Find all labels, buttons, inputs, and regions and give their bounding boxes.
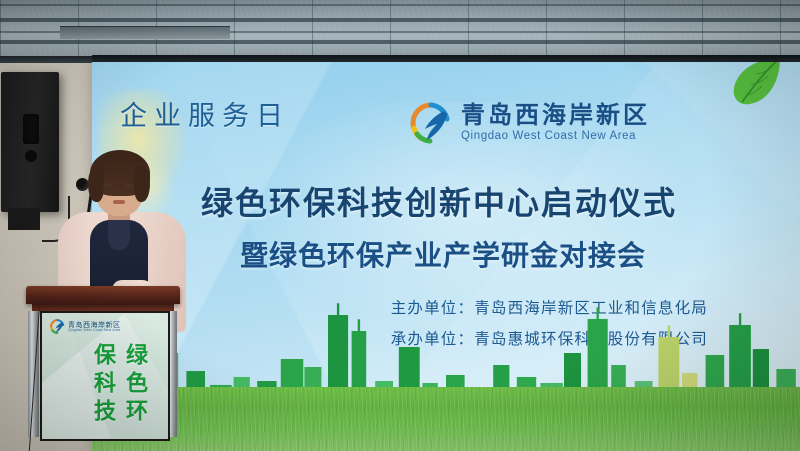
speaker-grill-icon [23, 114, 39, 144]
screenshot-stage: 企业服务日 青岛西海岸新区 Qingdao West Coast New Are… [0, 0, 800, 451]
event-subheadline: 暨绿色环保产业产学研金对接会 [92, 234, 800, 274]
ceiling-rail [0, 40, 800, 44]
podium-bird-logo-icon [50, 319, 65, 334]
podium-logo-en: Qingdao West Coast New Area [68, 329, 121, 333]
podium-sign-panel: 青岛西海岸新区 Qingdao West Coast New Area 绿色环保… [40, 311, 170, 441]
ceiling-tiles [0, 0, 800, 60]
event-series-badge: 企业服务日 [120, 94, 290, 133]
event-headline: 绿色环保科技创新中心启动仪式 [92, 178, 800, 224]
speaker-hair-left [88, 166, 104, 202]
speaker-eye-left [103, 184, 112, 187]
speaker-mouth [113, 200, 125, 204]
green-city-skyline-silhouette [92, 301, 800, 451]
wall-mounted-loudspeaker [1, 72, 59, 212]
speaker-bracket [8, 208, 40, 230]
podium-logo: 青岛西海岸新区 Qingdao West Coast New Area [50, 319, 121, 334]
ceiling-vent [60, 26, 230, 39]
speaker-neckline [108, 220, 130, 250]
green-leaf-decoration [726, 62, 782, 108]
podium-lip [32, 304, 174, 311]
podium-vertical-title: 绿色环保科技 [86, 343, 150, 439]
qingdao-logo-block: 青岛西海岸新区 Qingdao West Coast New Area [410, 102, 650, 144]
speaker-eye-right [124, 184, 133, 187]
qingdao-west-coast-bird-logo-icon [410, 102, 452, 144]
speaker-hair-right [134, 166, 150, 202]
logo-title-en: Qingdao West Coast New Area [461, 131, 650, 143]
projection-backdrop: 企业服务日 青岛西海岸新区 Qingdao West Coast New Are… [92, 62, 800, 451]
speaker-tweeter-icon [25, 150, 37, 162]
grass-ground [92, 387, 800, 451]
logo-title-cn: 青岛西海岸新区 [461, 103, 650, 127]
ceiling-rail [0, 18, 800, 22]
podium-top-surface [26, 286, 180, 304]
podium: 青岛西海岸新区 Qingdao West Coast New Area 绿色环保… [26, 286, 180, 451]
